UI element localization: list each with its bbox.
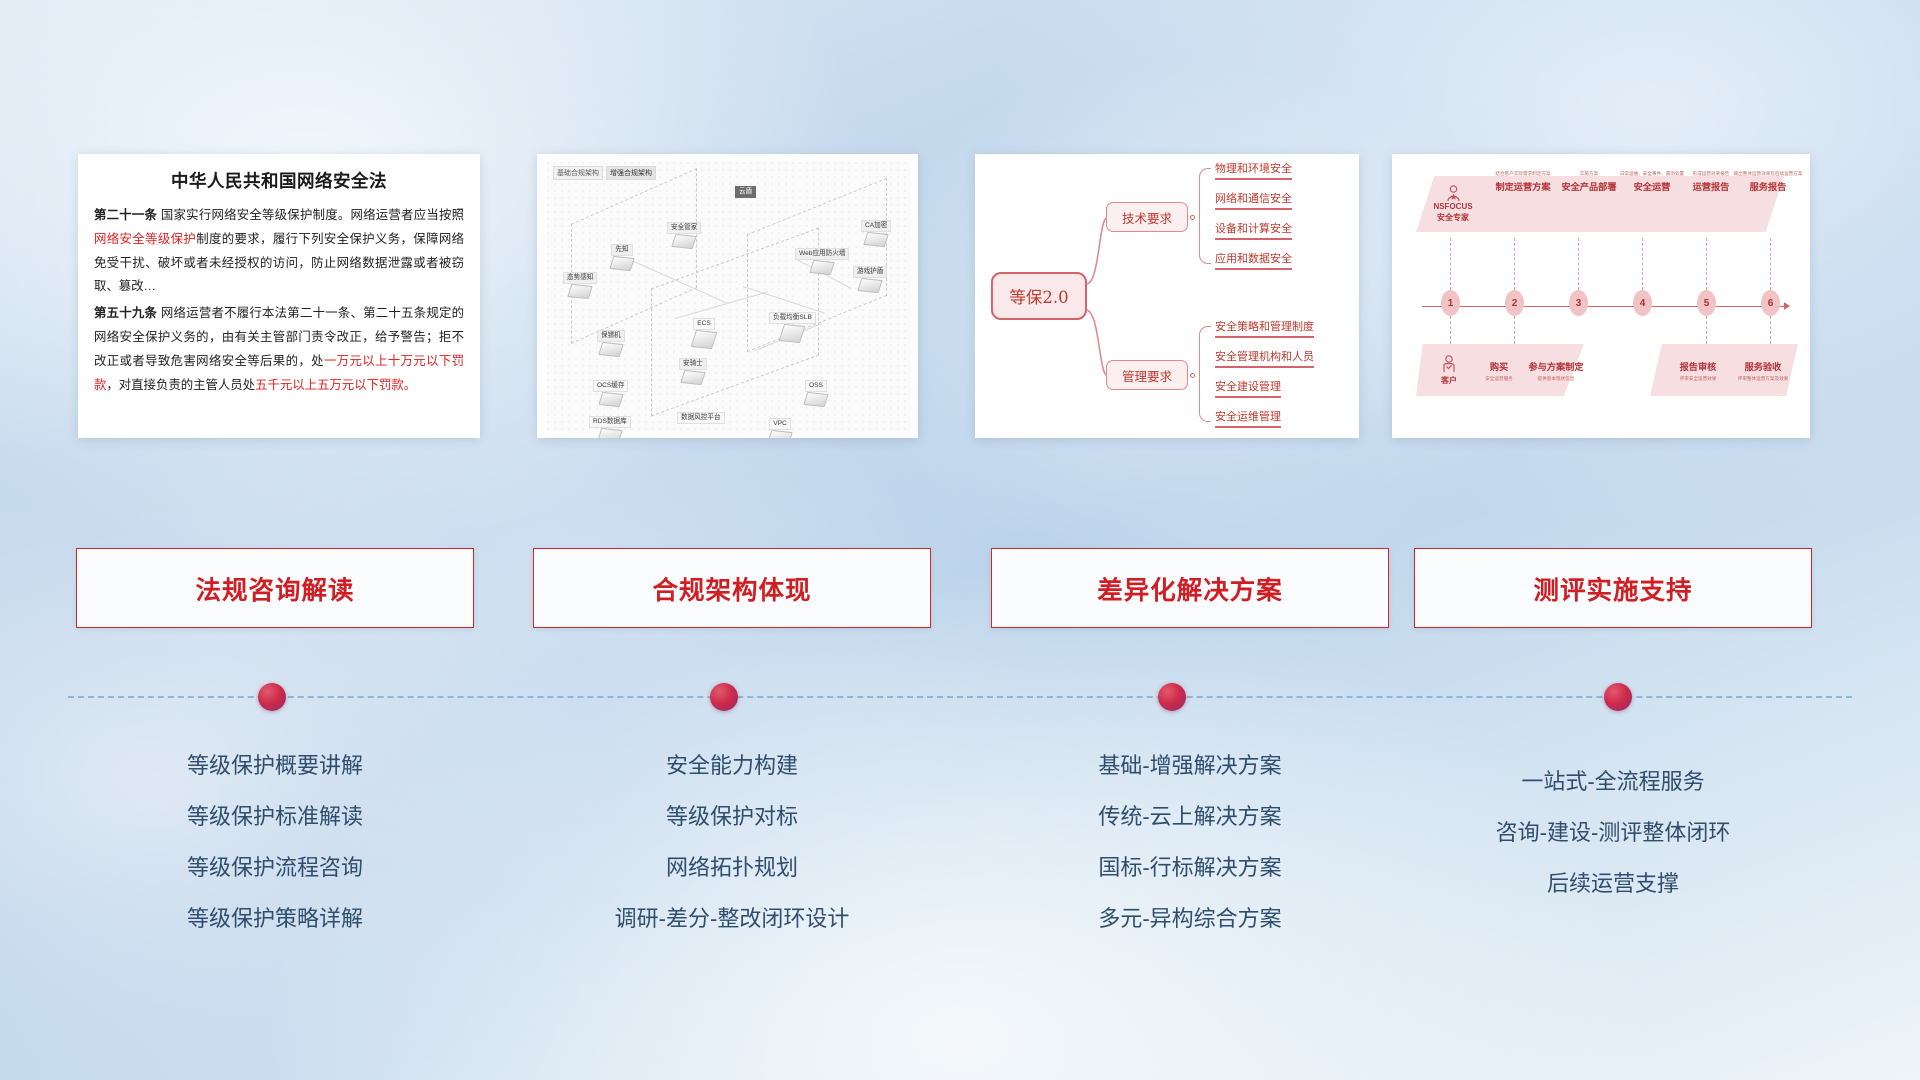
node-vpc: VPC <box>769 418 791 438</box>
pillar-title-2: 合规架构体现 <box>652 570 811 607</box>
timeline-stem <box>1770 238 1771 290</box>
article-21-label: 第二十一条 <box>94 208 157 222</box>
timeline-step-1: 结合客户实际需求制定方案 制定运营方案 <box>1486 154 1560 210</box>
node-anqishi: 安骑士 <box>679 358 707 384</box>
card-service-timeline: NSFOCUS 安全专家 结合客户实际需求制定方案 制定运营方案 实施方案 安全… <box>1392 154 1810 438</box>
pillar-assessment-support[interactable]: 测评实施支持 <box>1414 548 1812 628</box>
tab-enhanced-compliance[interactable]: 增强合规架构 <box>606 166 656 180</box>
list-item: 等级保护对标 <box>533 791 931 842</box>
list-item: 咨询-建设-测评整体闭环 <box>1414 807 1812 858</box>
list-item: 调研-差分-整改闭环设计 <box>533 893 931 944</box>
timeline-stem-down <box>1706 316 1707 344</box>
node-xianzhi: 先知 <box>611 244 633 270</box>
node-game-shield: 游戏护盾 <box>853 266 887 292</box>
node-rds-database: RDS数据库 <box>589 416 631 438</box>
article-59-label: 第五十九条 <box>94 306 157 320</box>
card-cloud-architecture: 基础合规架构 增强合规架构 云盾 安全管家 <box>537 154 918 438</box>
mindmap-leaf-network-comm: 网络和通信安全 <box>1215 192 1292 210</box>
timeline-bottom-step-1: 购买 安全运营服务 <box>1472 344 1526 396</box>
page-root: 中华人民共和国网络安全法 第二十一条 国家实行网络安全等级保护制度。网络运营者应… <box>0 0 1920 1080</box>
timeline-axis <box>1422 306 1786 307</box>
mindmap-root: 等保2.0 <box>991 272 1087 320</box>
timeline-node-2: 2 <box>1505 290 1524 316</box>
customer-label: 客户 <box>1441 375 1457 386</box>
mindmap-leaf-physical-env: 物理和环境安全 <box>1215 162 1292 180</box>
architecture-canvas: 基础合规架构 增强合规架构 云盾 安全管家 <box>547 162 910 432</box>
expert-person-icon <box>1446 185 1461 202</box>
list-item: 一站式-全流程服务 <box>1414 756 1812 807</box>
card-mindmap-dengbao: 等保2.0 技术要求 管理要求 物理和环境安全 网络和通信安全 设备和计算安全 … <box>975 154 1359 438</box>
article-21-red: 网络安全等级保护 <box>94 232 196 246</box>
timeline-node-5: 5 <box>1697 290 1716 316</box>
timeline-arrow-icon <box>1784 302 1790 310</box>
node-situational-awareness: 态势感知 <box>563 272 597 298</box>
timeline-dashed-line <box>68 696 1852 698</box>
pillar-differentiated-solution[interactable]: 差异化解决方案 <box>991 548 1389 628</box>
architecture-diagram: 基础合规架构 增强合规架构 云盾 安全管家 <box>537 154 918 438</box>
timeline-bullet-2[interactable] <box>710 683 738 711</box>
law-text-block: 中华人民共和国网络安全法 第二十一条 国家实行网络安全等级保护制度。网络运营者应… <box>78 154 480 411</box>
list-item: 国标-行标解决方案 <box>991 842 1389 893</box>
customer-person-icon <box>1442 355 1456 373</box>
timeline-stem <box>1706 238 1707 290</box>
customer-block: 客户 <box>1424 344 1474 396</box>
list-item: 安全能力构建 <box>533 740 931 791</box>
architecture-tabs: 基础合规架构 增强合规架构 <box>553 166 656 180</box>
mindmap: 等保2.0 技术要求 管理要求 物理和环境安全 网络和通信安全 设备和计算安全 … <box>975 154 1359 438</box>
timeline-bullet-3[interactable] <box>1158 683 1186 711</box>
article-59-red-2: 五千元以上五万元以下罚款。 <box>255 378 416 392</box>
pillar-title-3: 差异化解决方案 <box>1097 570 1283 607</box>
mindmap-leaf-app-data: 应用和数据安全 <box>1215 252 1292 270</box>
pillar-items-1: 等级保护概要讲解 等级保护标准解读 等级保护流程咨询 等级保护策略详解 <box>76 740 474 944</box>
article-59-text-b: ，对直接负责的主管人员处 <box>106 378 255 392</box>
mindmap-branch-management: 管理要求 <box>1106 360 1188 390</box>
pillar-items-4: 一站式-全流程服务 咨询-建设-测评整体闭环 后续运营支撑 <box>1414 756 1812 909</box>
tab-basic-compliance[interactable]: 基础合规架构 <box>553 166 603 180</box>
pillar-compliance-architecture[interactable]: 合规架构体现 <box>533 548 931 628</box>
timeline-stem-down <box>1770 316 1771 344</box>
mindmap-branch-technical: 技术要求 <box>1106 202 1188 232</box>
node-ocs-cache: OCS缓存 <box>593 380 628 406</box>
timeline-stem-down <box>1450 316 1451 344</box>
article-21-text-a: 国家实行网络安全等级保护制度。网络运营者应当按照 <box>161 208 464 222</box>
node-ca-encryption: CA加密 <box>861 220 891 246</box>
law-title: 中华人民共和国网络安全法 <box>94 168 464 193</box>
timeline-bullet-1[interactable] <box>258 683 286 711</box>
list-item: 传统-云上解决方案 <box>991 791 1389 842</box>
timeline-node-4: 4 <box>1633 290 1652 316</box>
card-cybersecurity-law: 中华人民共和国网络安全法 第二十一条 国家实行网络安全等级保护制度。网络运营者应… <box>78 154 480 438</box>
list-item: 等级保护策略详解 <box>76 893 474 944</box>
timeline-stem <box>1578 238 1579 290</box>
mindmap-collapse-dot-technical[interactable] <box>1190 215 1195 220</box>
list-item: 后续运营支撑 <box>1414 858 1812 909</box>
pillar-title-1: 法规咨询解读 <box>195 570 354 607</box>
timeline-stem-down <box>1514 316 1515 344</box>
list-item: 等级保护流程咨询 <box>76 842 474 893</box>
timeline-bullet-4[interactable] <box>1604 683 1632 711</box>
nsfocus-role: 安全专家 <box>1437 213 1469 223</box>
pillar-regulation-consulting[interactable]: 法规咨询解读 <box>76 548 474 628</box>
pillar-items-2: 安全能力构建 等级保护对标 网络拓扑规划 调研-差分-整改闭环设计 <box>533 740 931 944</box>
timeline-stem <box>1514 238 1515 290</box>
list-item: 基础-增强解决方案 <box>991 740 1389 791</box>
law-article-21: 第二十一条 国家实行网络安全等级保护制度。网络运营者应当按照网络安全等级保护制度… <box>94 204 464 299</box>
law-article-59: 第五十九条 网络运营者不履行本法第二十一条、第二十五条规定的网络安全保护义务的，… <box>94 302 464 397</box>
mindmap-leaf-org-personnel: 安全管理机构和人员 <box>1215 350 1314 368</box>
list-item: 等级保护标准解读 <box>76 791 474 842</box>
list-item: 网络拓扑规划 <box>533 842 931 893</box>
service-timeline: NSFOCUS 安全专家 结合客户实际需求制定方案 制定运营方案 实施方案 安全… <box>1392 154 1810 438</box>
node-web-application-firewall: Web应用防火墙 <box>795 248 849 274</box>
node-bodyguard: 保镖机 <box>597 330 625 356</box>
timeline-bottom-step-4: 服务验收 评审整体运营方案及效果 <box>1724 344 1802 396</box>
node-slb: 负载均衡SLB <box>769 312 816 342</box>
timeline-node-3: 3 <box>1569 290 1588 316</box>
mindmap-leaf-build-mgmt: 安全建设管理 <box>1215 380 1281 398</box>
pillar-title-4: 测评实施支持 <box>1533 570 1692 607</box>
timeline-bottom-step-2: 参与方案制定 提供基本现状信息 <box>1520 344 1592 396</box>
list-item: 多元-异构综合方案 <box>991 893 1389 944</box>
timeline-node-6: 6 <box>1761 290 1780 316</box>
node-oss: OSS <box>805 380 827 406</box>
nsfocus-brand: NSFOCUS <box>1433 202 1472 212</box>
node-risk-control-platform: 数据风控平台 <box>677 412 725 424</box>
mindmap-leaf-device-compute: 设备和计算安全 <box>1215 222 1292 240</box>
timeline-stem <box>1450 238 1451 290</box>
list-item: 等级保护概要讲解 <box>76 740 474 791</box>
nsfocus-expert-block: NSFOCUS 安全专家 <box>1422 176 1484 232</box>
timeline-node-1: 1 <box>1441 290 1460 316</box>
timeline-stem <box>1642 238 1643 290</box>
mindmap-leaf-ops-mgmt: 安全运维管理 <box>1215 410 1281 428</box>
node-ecs: ECS <box>693 318 715 348</box>
mindmap-spine-management <box>1199 326 1211 422</box>
pillar-items-3: 基础-增强解决方案 传统-云上解决方案 国标-行标解决方案 多元-异构综合方案 <box>991 740 1389 944</box>
timeline-step-5: 输出整体运营效果及后续运营方案 服务报告 <box>1722 154 1810 210</box>
mindmap-leaf-policy-system: 安全策略和管理制度 <box>1215 320 1314 338</box>
mindmap-collapse-dot-management[interactable] <box>1190 373 1195 378</box>
mindmap-spine-technical <box>1199 168 1211 264</box>
node-security-butler: 安全管家 <box>667 222 701 248</box>
node-yundun: 云盾 <box>735 186 756 198</box>
